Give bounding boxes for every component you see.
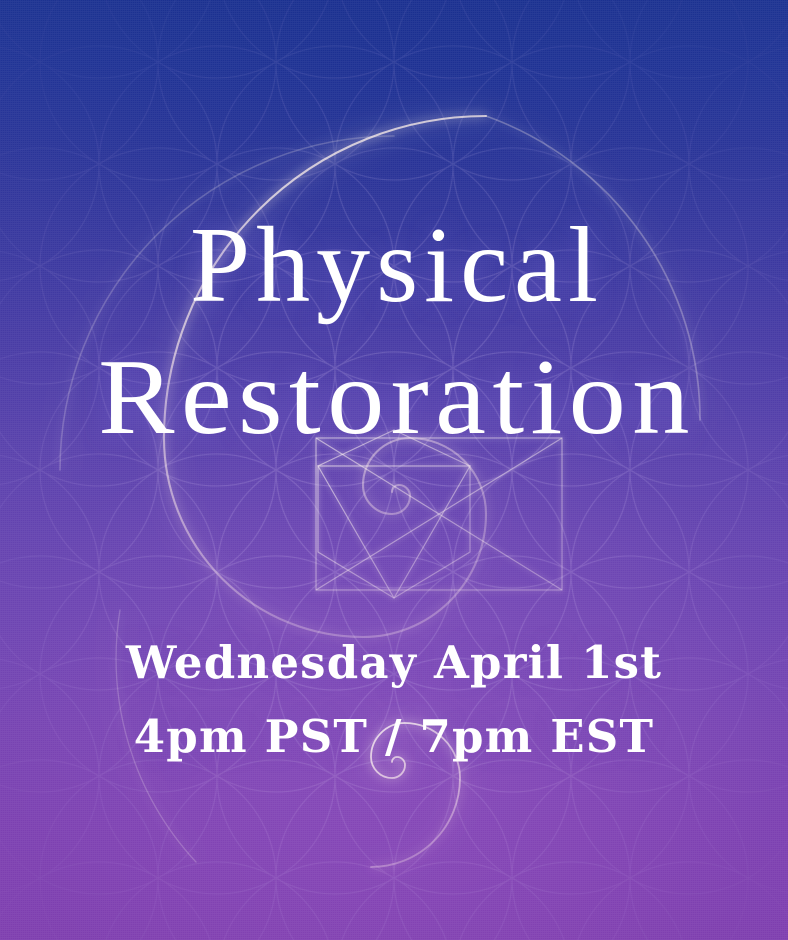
title-line-physical: Physical <box>6 212 788 320</box>
poster-content: Physical Restoration Wednesday April 1st… <box>0 0 788 940</box>
page-title: Physical Restoration <box>0 212 788 452</box>
title-line-restoration: Restoration <box>0 344 788 452</box>
event-schedule: Wednesday April 1st 4pm PST / 7pm EST <box>0 640 788 759</box>
event-date: Wednesday April 1st <box>0 640 788 685</box>
event-poster: Physical Restoration Wednesday April 1st… <box>0 0 788 940</box>
event-time: 4pm PST / 7pm EST <box>0 714 788 759</box>
